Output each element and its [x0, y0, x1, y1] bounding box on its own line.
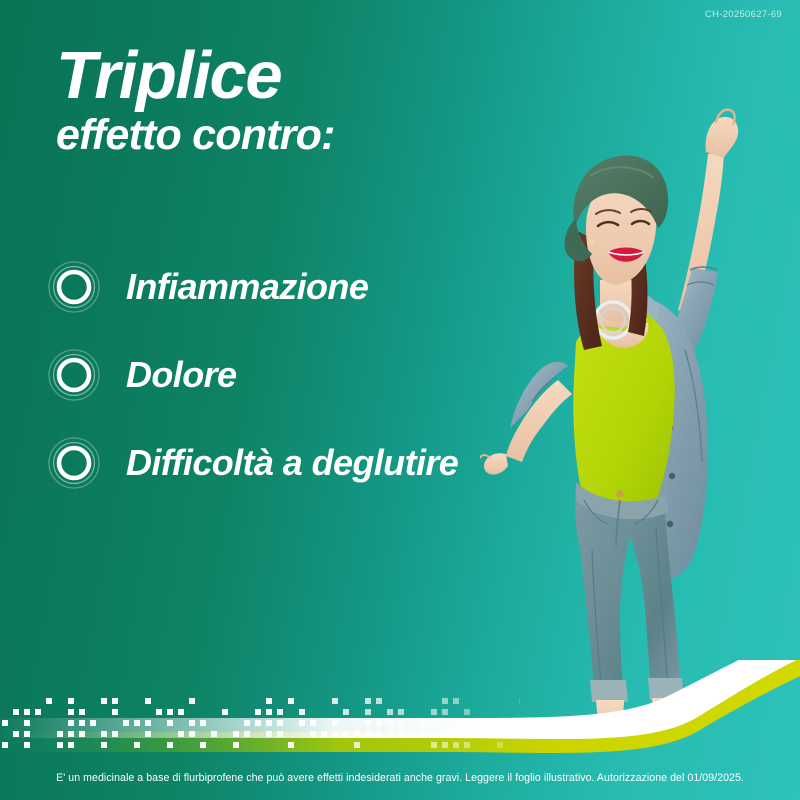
page-title: Triplice	[56, 44, 335, 108]
concentric-circle-icon	[48, 437, 100, 489]
list-item-label: Difficoltà a deglutire	[126, 442, 458, 484]
promo-banner: CH-20250627-69	[0, 0, 800, 800]
dot-matrix-pattern	[0, 695, 520, 750]
list-item: Infiammazione	[48, 243, 458, 331]
disclaimer-bar: E' un medicinale a base di flurbiprofene…	[0, 755, 800, 800]
list-item-label: Infiammazione	[126, 266, 368, 308]
disclaimer-text: E' un medicinale a base di flurbiprofene…	[56, 772, 744, 784]
model-photo	[480, 80, 800, 720]
benefits-list: Infiammazione Dolore Difficoltà a de	[48, 243, 458, 507]
list-item: Dolore	[48, 331, 458, 419]
page-subtitle: effetto contro:	[56, 114, 335, 158]
list-item-label: Dolore	[126, 354, 236, 396]
headline-block: Triplice effetto contro:	[56, 44, 335, 158]
regulatory-code: CH-20250627-69	[705, 9, 782, 20]
concentric-circle-icon	[48, 349, 100, 401]
concentric-circle-icon	[48, 261, 100, 313]
list-item: Difficoltà a deglutire	[48, 419, 458, 507]
